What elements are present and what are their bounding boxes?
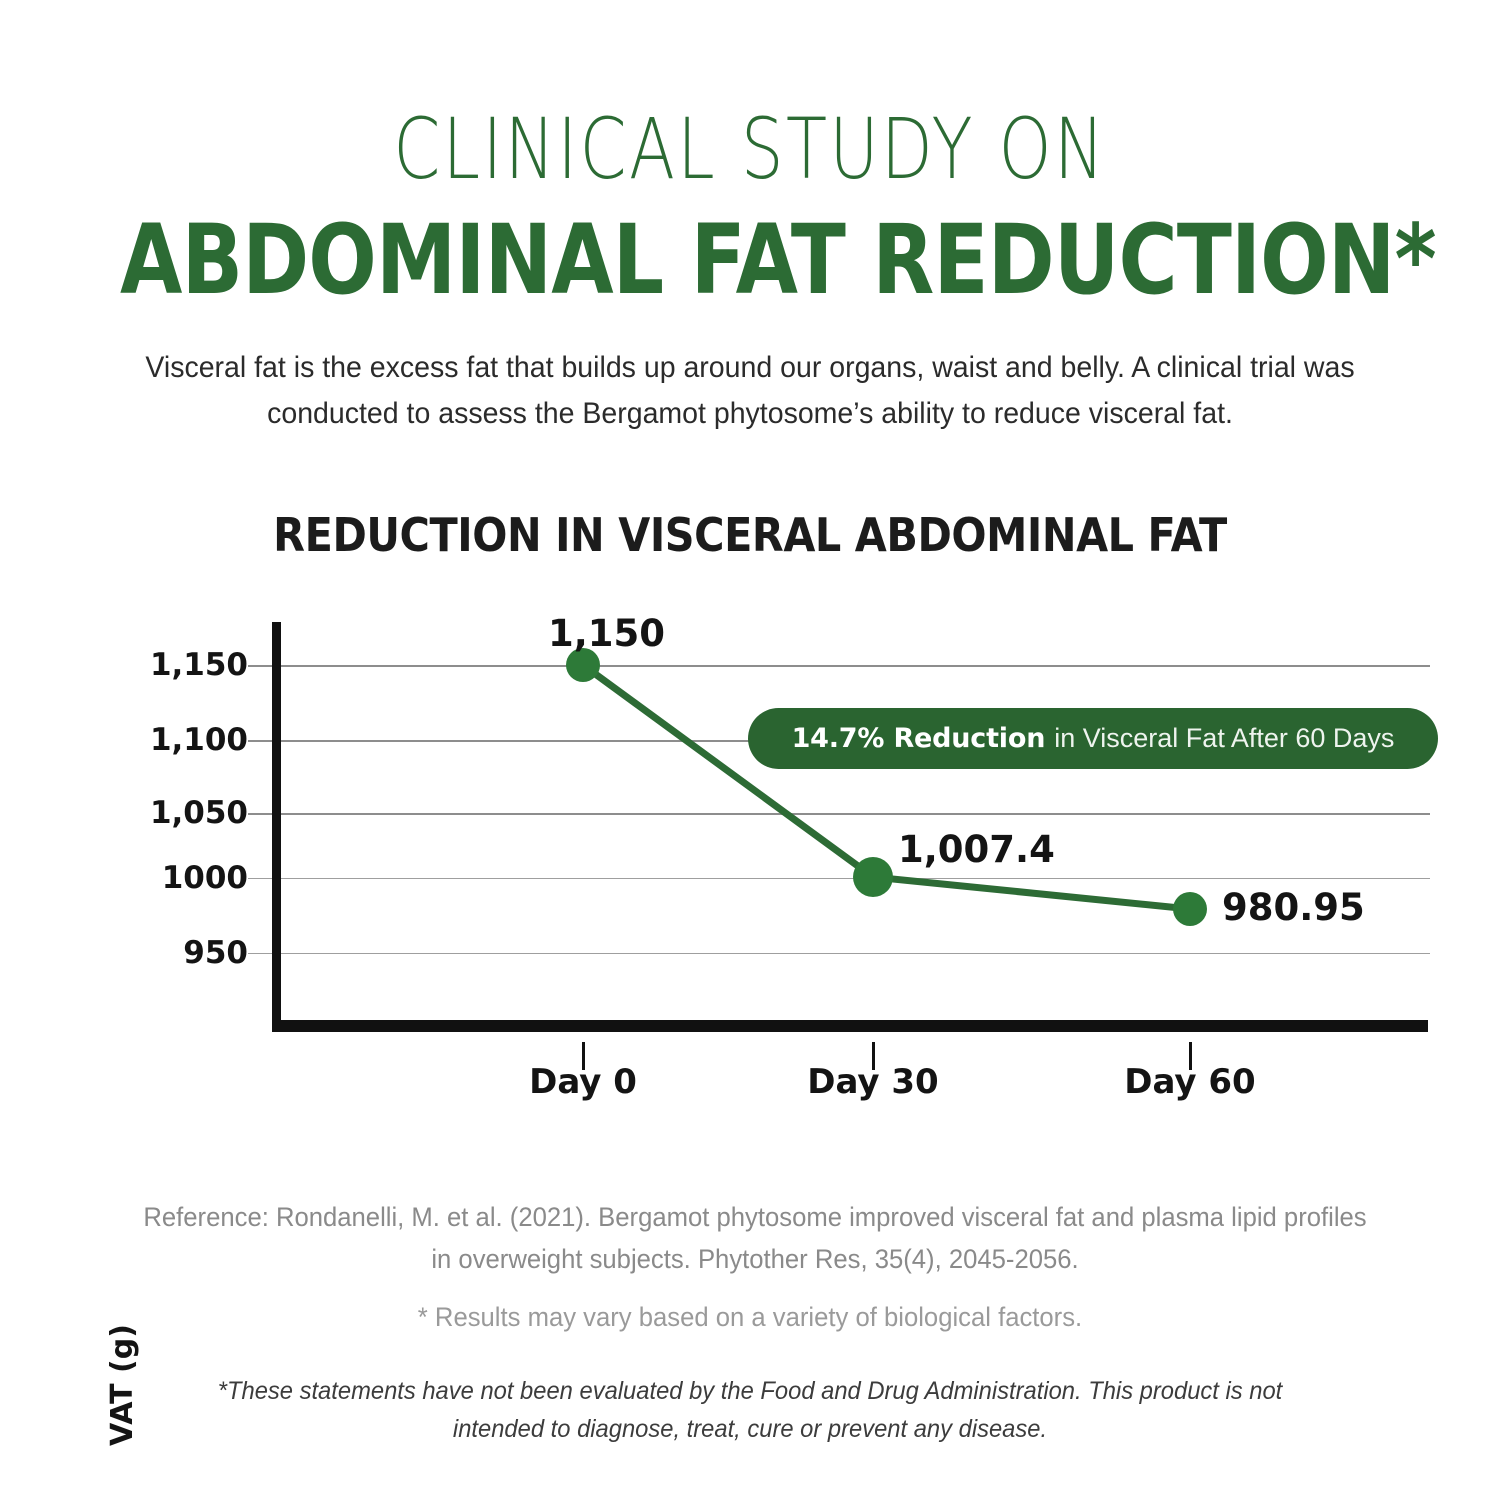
- page-title: ABDOMINAL FAT REDUCTION*: [120, 208, 1380, 312]
- xtick-label-day-30: Day 30: [753, 1062, 993, 1102]
- xtick-label-day-0: Day 0: [463, 1062, 703, 1102]
- xtick-label-day-60: Day 60: [1070, 1062, 1310, 1102]
- line-chart: VAT (g) 1,150 1,100 1,050 1000 950 1,150…: [0, 600, 1500, 1120]
- reduction-badge: 14.7% Reduction in Visceral Fat After 60…: [748, 708, 1438, 769]
- results-disclaimer: * Results may vary based on a variety of…: [180, 1297, 1320, 1337]
- point-label-day-30: 1,007.4: [898, 828, 1055, 871]
- series-path: [0, 600, 1500, 1120]
- badge-rest-text: in Visceral Fat After 60 Days: [1054, 723, 1394, 754]
- infographic-page: CLINICAL STUDY ON ABDOMINAL FAT REDUCTIO…: [0, 0, 1500, 1500]
- badge-strong-text: 14.7% Reduction: [792, 723, 1046, 754]
- intro-paragraph: Visceral fat is the excess fat that buil…: [104, 345, 1396, 437]
- reference-citation: Reference: Rondanelli, M. et al. (2021).…: [142, 1196, 1368, 1280]
- eyebrow-heading: CLINICAL STUDY ON: [150, 103, 1350, 195]
- chart-title: REDUCTION IN VISCERAL ABDOMINAL FAT: [75, 508, 1425, 562]
- fda-disclaimer: *These statements have not been evaluate…: [180, 1372, 1320, 1448]
- point-label-day-60: 980.95: [1222, 886, 1365, 929]
- point-label-day-0: 1,150: [548, 612, 665, 655]
- y-axis-title: VAT (g): [105, 1295, 145, 1475]
